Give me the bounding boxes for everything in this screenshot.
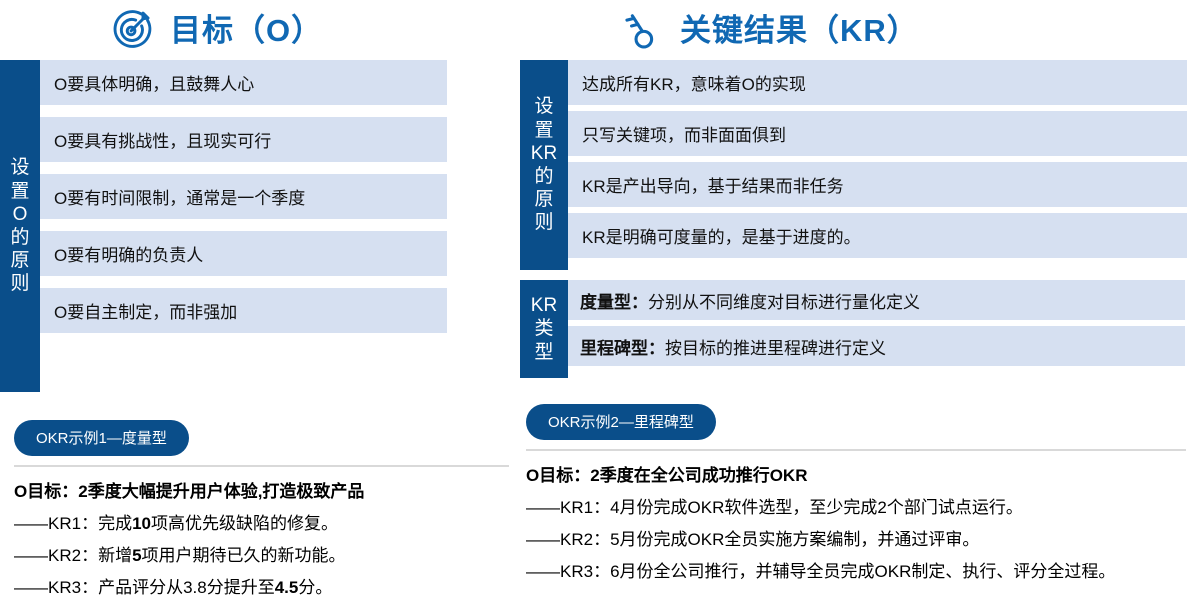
kr-number: 5	[132, 546, 141, 565]
kr-label: ——KR3：	[526, 562, 610, 581]
list-item: KR是产出导向，基于结果而非任务	[568, 162, 1187, 207]
kr-text: 4月份完成OKR软件选型，至少完成2个部门试点运行。	[610, 498, 1023, 517]
kr-label: ——KR1：	[14, 514, 98, 533]
list-item: O要自主制定，而非强加	[40, 288, 447, 333]
kr-label: ——KR2：	[526, 530, 610, 549]
example-objective: O目标：2季度在全公司成功推行OKR	[526, 461, 1193, 486]
kr-type-desc: 分别从不同维度对目标进行量化定义	[648, 288, 920, 313]
status-badge: OKR示例2—里程碑型	[526, 404, 716, 440]
example-key-result: ——KR3：6月份全公司推行，并辅导全员完成OKR制定、执行、评分全过程。	[526, 557, 1193, 582]
sidebar-char: 型	[534, 341, 553, 364]
list-item: 达成所有KR，意味着O的实现	[568, 60, 1187, 105]
kr-types-sidebar-label: KR 类 型	[520, 280, 568, 378]
sidebar-char: 则	[10, 272, 29, 295]
kr-principles-list: 达成所有KR，意味着O的实现 只写关键项，而非面面俱到 KR是产出导向，基于结果…	[568, 60, 1193, 270]
objective-example-badge-wrap: OKR示例1—度量型	[0, 420, 512, 467]
kr-text: 6月份全公司推行，并辅导全员完成OKR制定、执行、评分全过程。	[610, 562, 1115, 581]
sidebar-char: O	[13, 203, 28, 226]
list-item: KR是明确可度量的，是基于进度的。	[568, 213, 1187, 258]
key-icon	[620, 8, 664, 52]
key-results-header: 关键结果（KR）	[520, 0, 1193, 60]
objective-example-body: O目标：2季度大幅提升用户体验,打造极致产品 ——KR1：完成10项高优先级缺陷…	[0, 467, 512, 598]
sidebar-char: 原	[534, 188, 553, 211]
kr-types-list: 度量型：分别从不同维度对目标进行量化定义 里程碑型：按目标的推进里程碑进行定义	[568, 280, 1193, 378]
sidebar-char: 置	[534, 119, 553, 142]
sidebar-char: 则	[534, 211, 553, 234]
sidebar-char: KR	[531, 142, 557, 165]
kr-types-group: KR 类 型 度量型：分别从不同维度对目标进行量化定义 里程碑型：按目标的推进里…	[520, 280, 1193, 378]
kr-principles-sidebar-label: 设 置 KR 的 原 则	[520, 60, 568, 270]
objective-principles-sidebar-label: 设 置 O 的 原 则	[0, 60, 40, 392]
kr-post: 分。	[298, 578, 332, 597]
target-icon	[110, 8, 154, 52]
example-key-result: ——KR3：产品评分从3.8分提升至4.5分。	[14, 573, 512, 598]
example-objective-prefix: O目标：	[14, 482, 78, 501]
sidebar-char: 的	[10, 226, 29, 249]
kr-type-term: 度量型：	[580, 288, 648, 313]
kr-type-desc: 按目标的推进里程碑进行定义	[665, 334, 886, 359]
kr-number: 4.5	[275, 578, 299, 597]
kr-example-body: O目标：2季度在全公司成功推行OKR ——KR1：4月份完成OKR软件选型，至少…	[520, 451, 1193, 582]
kr-pre: 新增	[98, 546, 132, 565]
example-objective-text: 2季度大幅提升用户体验,打造极致产品	[78, 482, 364, 501]
kr-principles-group: 设 置 KR 的 原 则 达成所有KR，意味着O的实现 只写关键项，而非面面俱到…	[520, 60, 1193, 270]
kr-type-term: 里程碑型：	[580, 334, 665, 359]
objective-principles-list: O要具体明确，且鼓舞人心 O要具有挑战性，且现实可行 O要有时间限制，通常是一个…	[40, 60, 512, 392]
example-key-result: ——KR2：5月份完成OKR全员实施方案编制，并通过评审。	[526, 525, 1193, 550]
sidebar-char: 设	[534, 95, 553, 118]
example-objective-text: 2季度在全公司成功推行OKR	[590, 466, 807, 485]
list-item: O要有时间限制，通常是一个季度	[40, 174, 447, 219]
key-results-panel: 关键结果（KR） 设 置 KR 的 原 则 达成所有KR，意味着O的实现 只写关…	[520, 0, 1193, 598]
list-item: O要具体明确，且鼓舞人心	[40, 60, 447, 105]
list-item: 里程碑型：按目标的推进里程碑进行定义	[568, 326, 1185, 366]
kr-label: ——KR1：	[526, 498, 610, 517]
sidebar-char: 置	[10, 180, 29, 203]
kr-pre: 产品评分从3.8分提升至	[98, 578, 275, 597]
sidebar-char: 设	[10, 156, 29, 179]
objective-panel: 目标（O） 设 置 O 的 原 则 O要具体明确，且鼓舞人心 O要具有挑战性，且…	[0, 0, 512, 598]
kr-pre: 完成	[98, 514, 132, 533]
example-objective: O目标：2季度大幅提升用户体验,打造极致产品	[14, 477, 512, 502]
list-item: O要具有挑战性，且现实可行	[40, 117, 447, 162]
kr-example-badge-wrap: OKR示例2—里程碑型	[520, 404, 1193, 451]
objective-title: 目标（O）	[170, 15, 323, 46]
status-badge: OKR示例1—度量型	[14, 420, 189, 456]
example-key-result: ——KR1：完成10项高优先级缺陷的修复。	[14, 509, 512, 534]
objective-principles-group: 设 置 O 的 原 则 O要具体明确，且鼓舞人心 O要具有挑战性，且现实可行 O…	[0, 60, 512, 392]
kr-label: ——KR3：	[14, 578, 98, 597]
kr-number: 10	[132, 514, 151, 533]
kr-post: 项高优先级缺陷的修复。	[151, 514, 338, 533]
sidebar-char: 的	[534, 165, 553, 188]
example-objective-prefix: O目标：	[526, 466, 590, 485]
sidebar-char: KR	[531, 294, 557, 317]
list-item: 度量型：分别从不同维度对目标进行量化定义	[568, 280, 1185, 320]
list-item: 只写关键项，而非面面俱到	[568, 111, 1187, 156]
kr-post: 项用户期待已久的新功能。	[142, 546, 346, 565]
kr-label: ——KR2：	[14, 546, 98, 565]
example-key-result: ——KR1：4月份完成OKR软件选型，至少完成2个部门试点运行。	[526, 493, 1193, 518]
sidebar-char: 类	[534, 317, 553, 340]
list-item: O要有明确的负责人	[40, 231, 447, 276]
kr-text: 5月份完成OKR全员实施方案编制，并通过评审。	[610, 530, 979, 549]
sidebar-char: 原	[10, 249, 29, 272]
objective-header: 目标（O）	[0, 0, 512, 60]
key-results-title: 关键结果（KR）	[680, 15, 919, 46]
example-key-result: ——KR2：新增5项用户期待已久的新功能。	[14, 541, 512, 566]
